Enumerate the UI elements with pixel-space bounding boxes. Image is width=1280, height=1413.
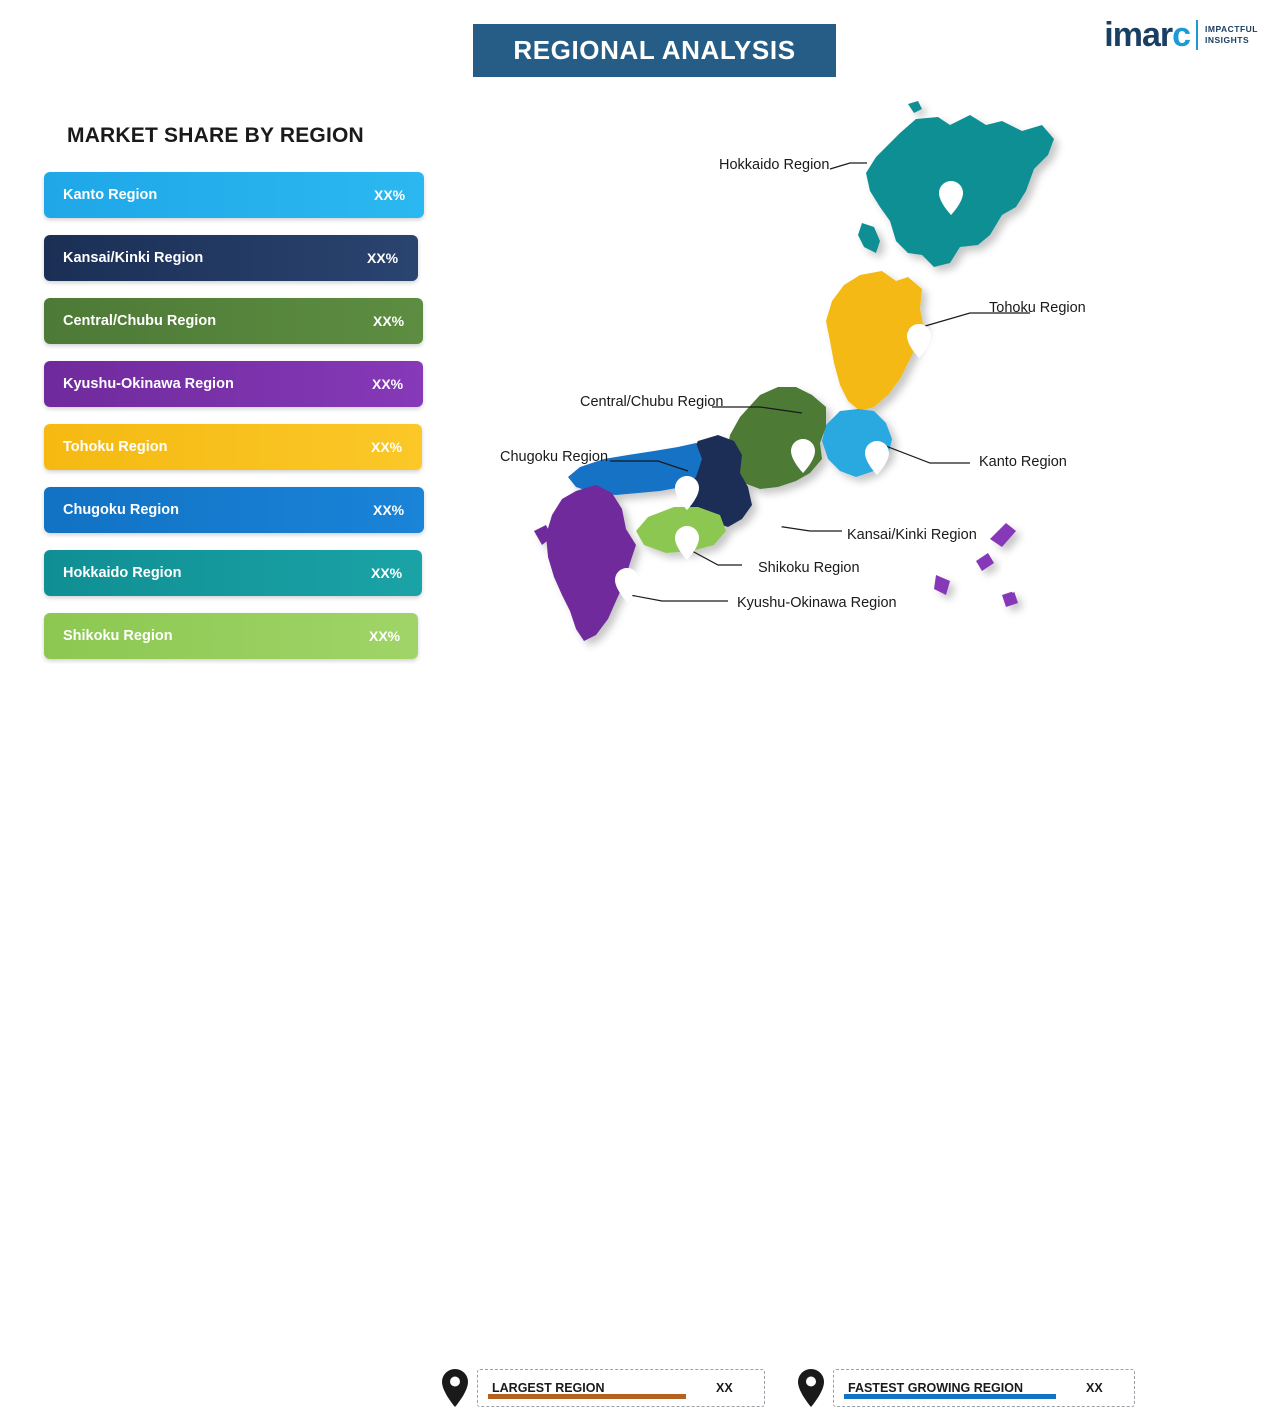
market-share-bar-value: XX%	[369, 628, 400, 644]
fastest-region-box: FASTEST GROWING REGION XX	[833, 1369, 1135, 1407]
page-title: REGIONAL ANALYSIS	[513, 35, 795, 66]
logo-tagline-line2: INSIGHTS	[1205, 35, 1258, 46]
market-share-bar-label: Kansai/Kinki Region	[63, 250, 203, 266]
slide-canvas: REGIONAL ANALYSIS imarc IMPACTFUL INSIGH…	[0, 0, 1280, 720]
market-share-bar[interactable]: Tohoku RegionXX%	[44, 424, 422, 470]
map-pin-kyushu	[614, 567, 640, 603]
region-shape-okinawa	[990, 523, 1016, 547]
map-label-central-chubu: Central/Chubu Region	[580, 394, 723, 410]
market-share-bar-label: Tohoku Region	[63, 439, 167, 455]
region-shape-okinawa-2	[976, 553, 994, 571]
market-share-bar[interactable]: Kanto RegionXX%	[44, 172, 424, 218]
market-share-bar-value: XX%	[371, 565, 402, 581]
market-share-bar-label: Central/Chubu Region	[63, 313, 216, 329]
japan-map	[430, 95, 1260, 675]
market-share-bar[interactable]: Hokkaido RegionXX%	[44, 550, 422, 596]
map-label-kanto: Kanto Region	[979, 454, 1067, 470]
fastest-region-pin-icon	[797, 1368, 825, 1413]
map-pin-chubu	[790, 438, 816, 474]
market-share-bar-value: XX%	[373, 502, 404, 518]
map-label-chugoku: Chugoku Region	[500, 449, 608, 465]
panel-title: MARKET SHARE BY REGION	[67, 124, 364, 148]
map-label-hokkaido: Hokkaido Region	[719, 157, 829, 173]
map-label-shikoku: Shikoku Region	[758, 560, 860, 576]
market-share-bar[interactable]: Central/Chubu RegionXX%	[44, 298, 423, 344]
market-share-bar-label: Hokkaido Region	[63, 565, 181, 581]
market-share-bar-list: Kanto RegionXX%Kansai/Kinki RegionXX%Cen…	[44, 172, 434, 676]
imarc-logo: imarc IMPACTFUL INSIGHTS	[1104, 18, 1258, 52]
market-share-bar[interactable]: Kansai/Kinki RegionXX%	[44, 235, 418, 281]
map-pin-tohoku	[906, 323, 932, 359]
fastest-region-value: XX	[1086, 1381, 1103, 1395]
region-shape-hokkaido-isle	[908, 101, 922, 113]
market-share-bar[interactable]: Shikoku RegionXX%	[44, 613, 418, 659]
market-share-bar[interactable]: Chugoku RegionXX%	[44, 487, 424, 533]
map-pin-okinawa	[1000, 558, 1026, 594]
map-label-kyushu-okinawa: Kyushu-Okinawa Region	[737, 595, 897, 611]
largest-region-pin-icon	[441, 1368, 469, 1413]
map-label-kansai-kinki: Kansai/Kinki Region	[847, 527, 977, 543]
market-share-bar-label: Shikoku Region	[63, 628, 173, 644]
fastest-region-label: FASTEST GROWING REGION	[848, 1381, 1023, 1395]
map-label-tohoku: Tohoku Region	[989, 300, 1086, 316]
logo-word-main: imar	[1104, 16, 1172, 54]
largest-region-label: LARGEST REGION	[492, 1381, 605, 1395]
market-share-bar[interactable]: Kyushu-Okinawa RegionXX%	[44, 361, 423, 407]
map-pin-shikoku	[674, 525, 700, 561]
map-pin-kansai	[762, 500, 788, 536]
map-pin-kanto	[864, 440, 890, 476]
region-shape-okinawa-3	[934, 575, 950, 595]
map-pin-hokkaido	[938, 180, 964, 216]
market-share-bar-value: XX%	[372, 376, 403, 392]
largest-region-box: LARGEST REGION XX	[477, 1369, 765, 1407]
logo-divider	[1196, 20, 1198, 50]
logo-wordmark: imarc	[1104, 18, 1190, 52]
market-share-bar-value: XX%	[367, 250, 398, 266]
region-shape-hokkaido-tail	[858, 223, 880, 253]
market-share-bar-value: XX%	[371, 439, 402, 455]
market-share-bar-value: XX%	[374, 187, 405, 203]
market-share-bar-label: Kyushu-Okinawa Region	[63, 376, 234, 392]
market-share-bar-label: Kanto Region	[63, 187, 157, 203]
largest-region-value: XX	[716, 1381, 733, 1395]
market-share-bar-value: XX%	[373, 313, 404, 329]
market-share-bar-label: Chugoku Region	[63, 502, 179, 518]
map-pin-chugoku	[674, 475, 700, 511]
logo-tagline: IMPACTFUL INSIGHTS	[1205, 24, 1258, 47]
region-shape-kyushu	[546, 485, 636, 641]
logo-tagline-line1: IMPACTFUL	[1205, 24, 1258, 35]
logo-word-accent: c	[1172, 16, 1190, 54]
page-title-banner: REGIONAL ANALYSIS	[473, 24, 836, 77]
